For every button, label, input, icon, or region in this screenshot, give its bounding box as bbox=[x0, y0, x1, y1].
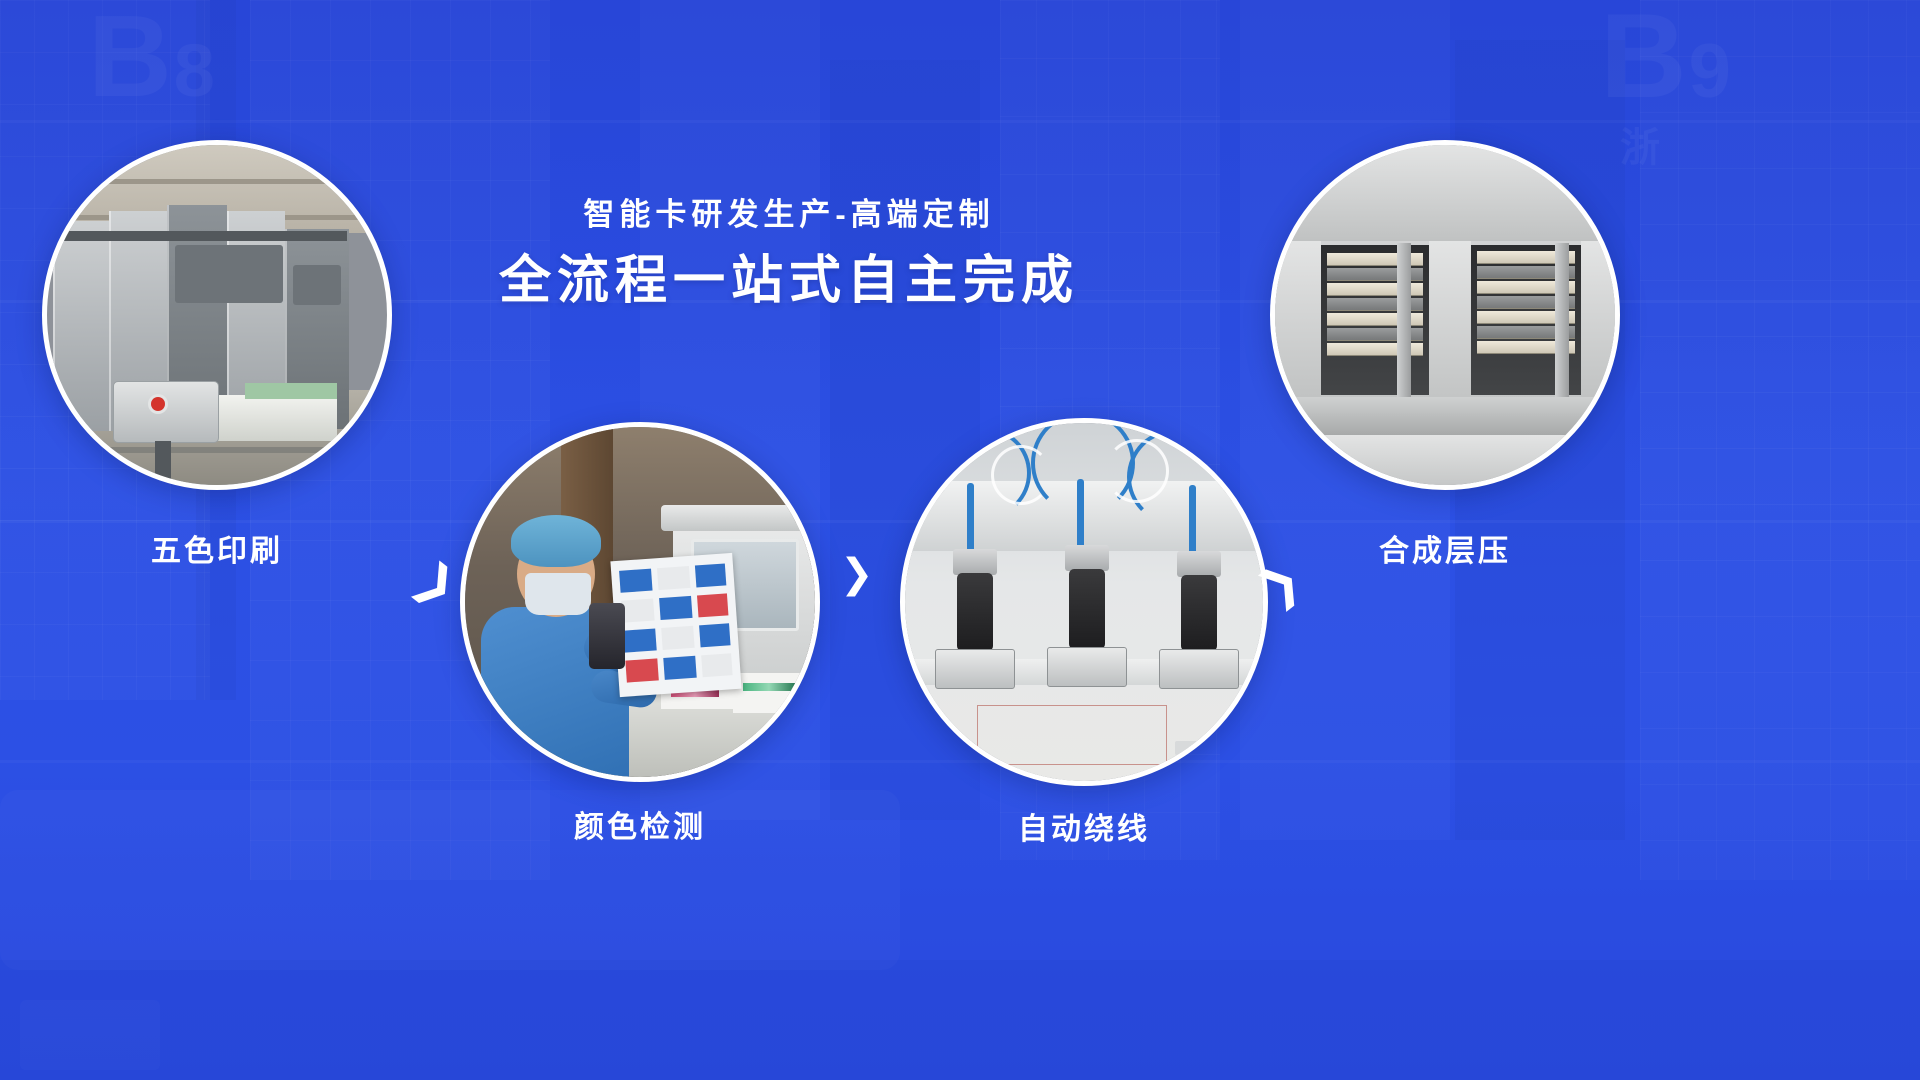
banner-title: 全流程一站式自主完成 bbox=[0, 251, 1578, 312]
process-step-printing-caption: 五色印刷 bbox=[151, 526, 283, 570]
process-step-lamination-photo bbox=[1270, 140, 1620, 490]
inspection-color-bar-c bbox=[743, 683, 795, 691]
winding-head-foot-1 bbox=[935, 649, 1015, 689]
card-swatch bbox=[657, 566, 690, 590]
card-swatch bbox=[619, 569, 652, 593]
inspection-worker-cap bbox=[511, 515, 601, 567]
card-swatch bbox=[697, 593, 728, 617]
winding-clear-hose-1 bbox=[991, 445, 1051, 505]
printing-green-sheets bbox=[245, 383, 337, 399]
winding-head-1 bbox=[957, 573, 993, 651]
printing-floor-shadow bbox=[47, 447, 387, 453]
winding-head-2 bbox=[1069, 569, 1105, 649]
process-step-color-check[interactable]: 颜色检测 bbox=[460, 422, 820, 782]
winding-head-foot-3 bbox=[1159, 649, 1239, 689]
card-swatch bbox=[663, 656, 696, 680]
inspection-card-proof-sheet bbox=[610, 553, 741, 697]
printing-emergency-stop-button bbox=[151, 397, 165, 411]
headline-block: 智能卡研发生产-高端定制 全流程一站式自主完成 bbox=[0, 196, 1578, 312]
winding-head-collar-1 bbox=[953, 549, 997, 575]
card-swatch bbox=[699, 623, 730, 647]
process-step-winding[interactable]: 自动绕线 bbox=[900, 418, 1268, 786]
printing-paper-stack bbox=[207, 395, 337, 441]
lamination-base-plate bbox=[1275, 397, 1615, 435]
inspection-worker-mask bbox=[525, 573, 591, 615]
scene-color-inspection bbox=[465, 427, 815, 777]
process-step-lamination[interactable]: 合成层压 bbox=[1270, 140, 1620, 490]
promo-banner: B8 B9 浙 智能卡研发生产-高端定制 全流程一站式自主完成 bbox=[0, 0, 1920, 1080]
winding-head-foot-2 bbox=[1047, 647, 1127, 687]
process-step-winding-photo bbox=[900, 418, 1268, 786]
process-step-winding-caption: 自动绕线 bbox=[1018, 804, 1150, 848]
scene-auto-winding bbox=[905, 423, 1263, 781]
spectrophotometer-device bbox=[589, 603, 625, 669]
printing-operator-console bbox=[113, 381, 219, 443]
card-swatch bbox=[701, 653, 732, 677]
winding-clear-hose-2 bbox=[1105, 439, 1169, 503]
card-swatch bbox=[623, 628, 656, 652]
inspection-proof-sheet-b bbox=[733, 673, 805, 713]
lamination-lower-apron bbox=[1275, 435, 1615, 490]
lamination-right-column bbox=[1581, 241, 1620, 401]
winding-table-pad bbox=[929, 745, 969, 759]
card-swatch bbox=[625, 658, 658, 682]
winding-card-outline bbox=[977, 705, 1167, 765]
process-step-color-check-photo bbox=[460, 422, 820, 782]
inspection-machine-hood bbox=[661, 505, 820, 531]
card-swatch bbox=[621, 599, 654, 623]
process-step-color-check-caption: 颜色检测 bbox=[574, 802, 706, 846]
winding-head-3 bbox=[1181, 575, 1217, 651]
process-step-printing-photo bbox=[42, 140, 392, 490]
process-step-lamination-caption: 合成层压 bbox=[1379, 526, 1511, 570]
card-swatch bbox=[659, 596, 692, 620]
winding-table-pad bbox=[1175, 741, 1215, 755]
process-step-printing[interactable]: 五色印刷 bbox=[42, 140, 392, 490]
card-swatch bbox=[695, 563, 726, 587]
winding-head-collar-2 bbox=[1065, 545, 1109, 571]
printing-ceiling-beam-1 bbox=[47, 179, 387, 184]
winding-head-collar-3 bbox=[1177, 551, 1221, 577]
card-swatch bbox=[661, 626, 694, 650]
process-arrow-2: ❯ bbox=[840, 554, 874, 594]
banner-subtitle: 智能卡研发生产-高端定制 bbox=[0, 196, 1578, 235]
